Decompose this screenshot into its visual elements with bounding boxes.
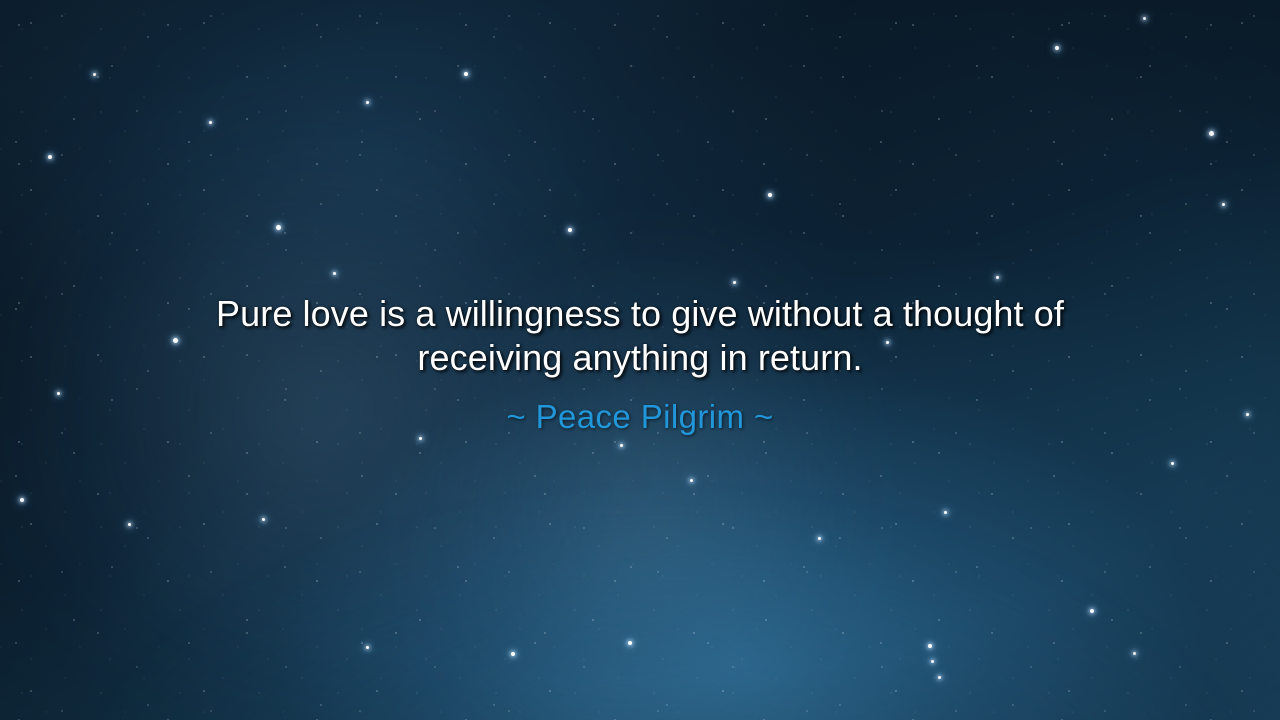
bright-star bbox=[938, 676, 941, 679]
bright-star bbox=[568, 228, 572, 232]
bright-star bbox=[93, 73, 96, 76]
bright-star bbox=[931, 660, 934, 663]
bright-star bbox=[944, 511, 947, 514]
bright-star bbox=[464, 72, 468, 76]
bright-star bbox=[366, 101, 369, 104]
bright-star bbox=[276, 225, 281, 230]
bright-star bbox=[1143, 17, 1146, 20]
bright-star bbox=[1055, 46, 1059, 50]
bright-star bbox=[1133, 652, 1136, 655]
quote-attribution: ~ Peace Pilgrim ~ bbox=[90, 398, 1190, 436]
bright-star bbox=[511, 652, 515, 656]
bright-star bbox=[128, 523, 131, 526]
bright-star bbox=[768, 193, 772, 197]
bright-star bbox=[419, 437, 422, 440]
bright-star bbox=[209, 121, 212, 124]
bright-star bbox=[1222, 203, 1225, 206]
bright-star bbox=[262, 518, 265, 521]
bright-star bbox=[628, 641, 632, 645]
bright-star bbox=[366, 646, 369, 649]
quote-text: Pure love is a willingness to give witho… bbox=[145, 292, 1135, 380]
bright-star bbox=[620, 444, 623, 447]
bright-star bbox=[48, 155, 52, 159]
bright-star bbox=[928, 644, 932, 648]
bright-star bbox=[996, 276, 999, 279]
bright-star bbox=[333, 272, 336, 275]
quote-image-scene: Pure love is a willingness to give witho… bbox=[0, 0, 1280, 720]
quote-text-block: Pure love is a willingness to give witho… bbox=[0, 292, 1280, 436]
bright-star bbox=[1090, 609, 1094, 613]
bright-star bbox=[20, 498, 24, 502]
bright-star bbox=[690, 479, 693, 482]
bright-star bbox=[1209, 131, 1214, 136]
bright-star bbox=[818, 537, 821, 540]
bright-star bbox=[1171, 462, 1174, 465]
bright-star bbox=[733, 281, 736, 284]
